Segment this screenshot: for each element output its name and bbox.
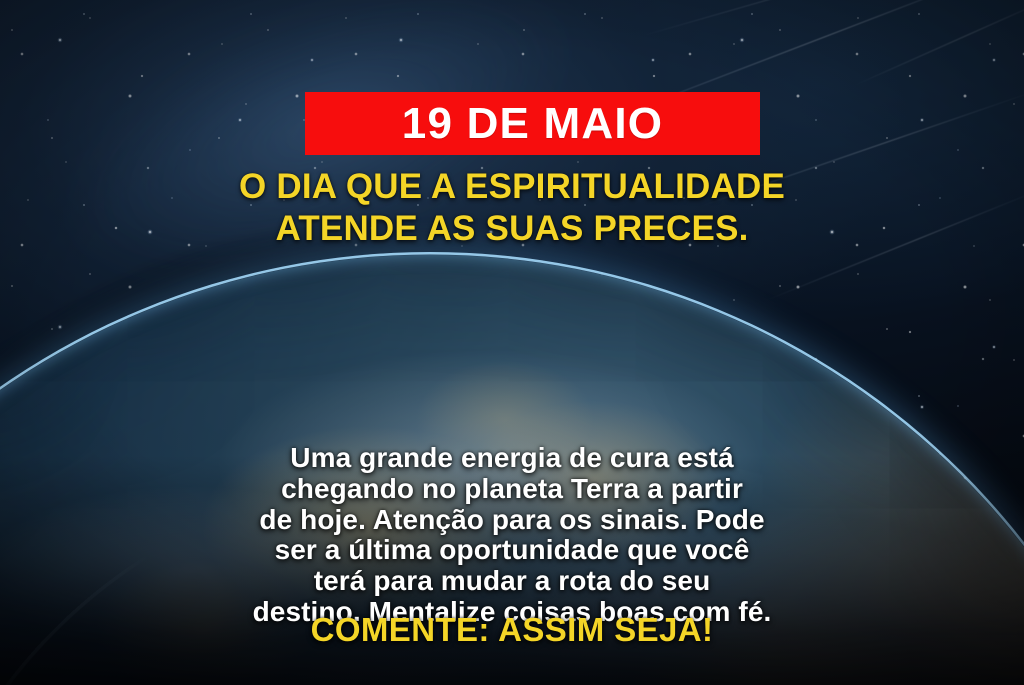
poster-canvas: 19 DE MAIO O DIA QUE A ESPIRITUALIDADE A… (0, 0, 1024, 685)
date-banner: 19 DE MAIO (305, 92, 760, 155)
call-to-action-label: COMENTE: ASSIM SEJA! (311, 611, 714, 648)
body-line-2: chegando no planeta Terra a partir (62, 474, 962, 505)
headline-line-1: O DIA QUE A ESPIRITUALIDADE (40, 166, 984, 208)
poster-content: 19 DE MAIO O DIA QUE A ESPIRITUALIDADE A… (0, 0, 1024, 685)
date-banner-label: 19 DE MAIO (402, 102, 663, 146)
body-line-3: de hoje. Atenção para os sinais. Pode (62, 505, 962, 536)
body-paragraph: Uma grande energia de cura está chegando… (0, 443, 1024, 628)
call-to-action: COMENTE: ASSIM SEJA! (0, 613, 1024, 646)
body-line-4: ser a última oportunidade que você (62, 535, 962, 566)
body-line-5: terá para mudar a rota do seu (62, 566, 962, 597)
headline: O DIA QUE A ESPIRITUALIDADE ATENDE AS SU… (0, 166, 1024, 250)
body-line-1: Uma grande energia de cura está (62, 443, 962, 474)
headline-line-2: ATENDE AS SUAS PRECES. (40, 208, 984, 250)
